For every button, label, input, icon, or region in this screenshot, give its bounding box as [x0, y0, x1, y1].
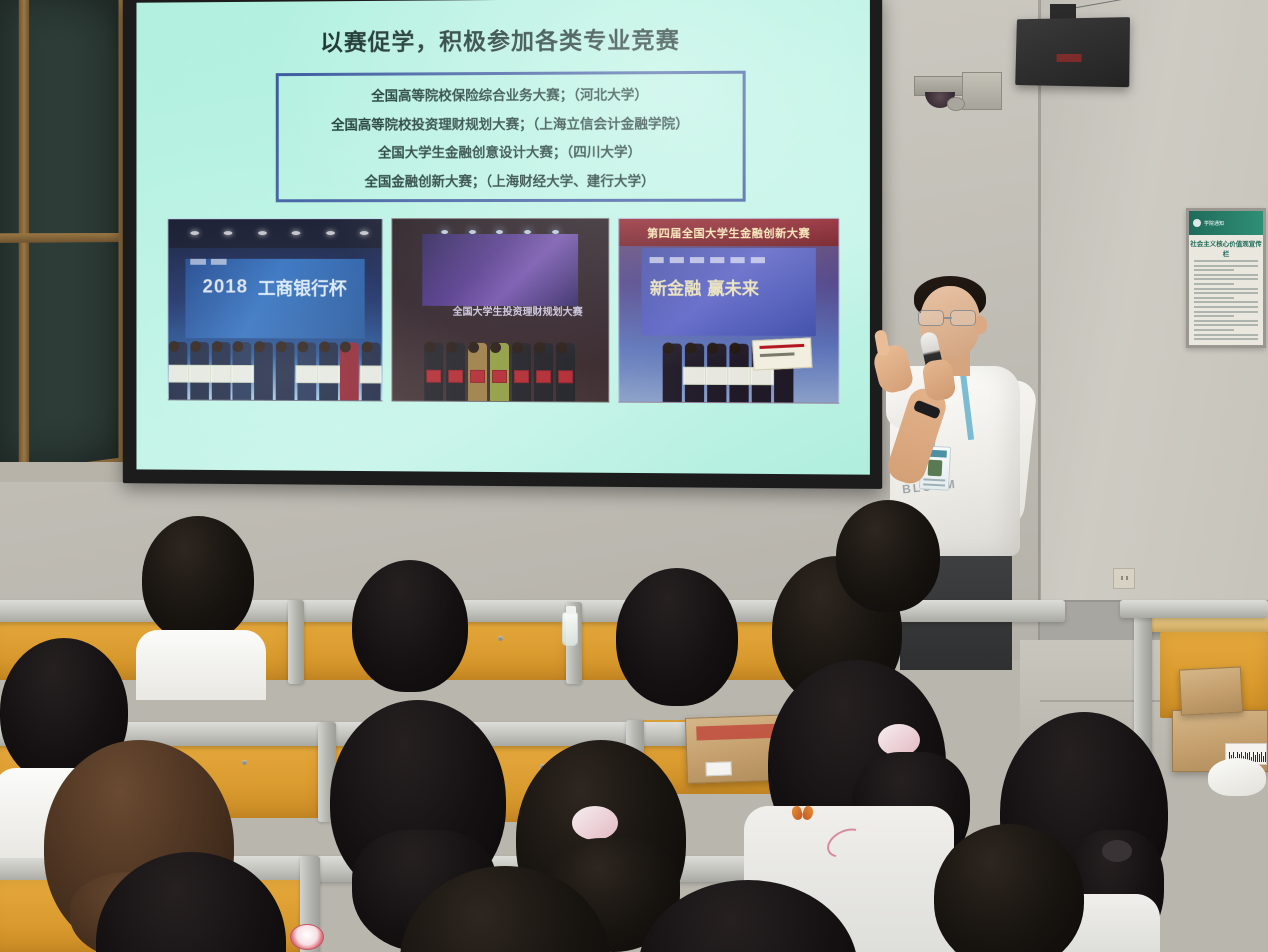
slide-bullet-4: 全国金融创新大赛；（上海财经大学、建行大学）: [365, 170, 655, 191]
audience-head: [836, 500, 940, 612]
audience-head: [616, 568, 738, 706]
photo2-people-row: [392, 313, 608, 401]
photo3-sponsor-logos: [650, 257, 765, 263]
photo1-person: [276, 341, 296, 400]
seat-rail[interactable]: [1120, 600, 1268, 618]
audience-head: [142, 516, 254, 642]
photo1-person: [254, 341, 273, 400]
photo3-oversized-cheque: [752, 338, 812, 371]
poster-logo-icon: [1193, 219, 1201, 227]
slide-bullet-1: 全国高等院校保险综合业务大赛；（河北大学）: [371, 83, 648, 104]
photo2-person: [534, 342, 554, 401]
photo2-person: [512, 342, 532, 401]
photo3-person: [663, 343, 683, 402]
badge-line: [923, 483, 945, 486]
seat-screw: [242, 760, 247, 765]
seat-divider-post: [288, 600, 304, 684]
chalkboard-frame-horizontal: [0, 233, 118, 243]
photo1-banner-year: 2018: [203, 277, 248, 299]
photo3-person: [707, 343, 727, 402]
seat-screw: [498, 636, 503, 641]
water-bottle[interactable]: [562, 612, 578, 646]
slide-photo-strip: 2018 工商银行杯: [168, 218, 840, 404]
loudspeaker-icon: [1015, 17, 1130, 87]
round-badge: [290, 924, 324, 950]
junction-box-2: [947, 97, 965, 111]
badge-line: [923, 478, 945, 481]
poster-header: 学院通知: [1189, 211, 1263, 235]
audience-shirt: [136, 630, 266, 700]
slide-photo-1: 2018 工商银行杯: [168, 218, 383, 401]
white-bag: [1208, 758, 1266, 796]
photo1-person: [362, 342, 382, 401]
poster-header-label: 学院通知: [1204, 220, 1224, 227]
photo2-person: [556, 342, 576, 401]
bottle-cap: [566, 606, 576, 614]
photo1-person: [190, 341, 209, 400]
slide-photo-3: 第四届全国大学生金融创新大赛 新金融 赢未来: [618, 218, 839, 404]
photo2-person: [490, 342, 510, 401]
speaker-brand-label: [1056, 54, 1081, 62]
photo1-person: [169, 341, 188, 399]
glasses-icon: [918, 310, 984, 326]
photo3-backdrop-text: 新金融 赢未来: [650, 274, 759, 299]
slide-photo-2: 全国大学生投资理财规划大赛: [391, 218, 609, 403]
photo3-person: [729, 343, 749, 403]
audience-head: [352, 560, 468, 692]
wall-poster: 学院通知 社会主义核心价值观宣传栏: [1186, 208, 1266, 348]
chalkboard: [0, 0, 125, 482]
photo3-person: [685, 343, 705, 402]
photo1-person: [297, 341, 317, 400]
butterfly-icon: [792, 806, 814, 822]
cardboard-box[interactable]: [1179, 666, 1243, 715]
slide-bullet-3: 全国大学生金融创意设计大赛；（四川大学）: [378, 141, 641, 162]
slide-bullet-2: 全国高等院校投资理财规划大赛；（上海立信会计金融学院）: [331, 112, 689, 133]
projection-screen: 以赛促学，积极参加各类专业竞赛 全国高等院校保险综合业务大赛；（河北大学） 全国…: [136, 0, 869, 475]
badge-photo: [928, 460, 943, 477]
hair-scrunchie: [572, 806, 618, 840]
photo1-banner-text: 工商银行杯: [258, 275, 347, 301]
photo2-person: [446, 342, 466, 401]
slide-bullet-box: 全国高等院校保险综合业务大赛；（河北大学） 全国高等院校投资理财规划大赛；（上海…: [276, 71, 746, 203]
photo2-backdrop: [422, 234, 577, 307]
photo1-people-row: [169, 313, 382, 401]
photo1-person: [233, 341, 252, 400]
projection-screen-frame: 以赛促学，积极参加各类专业竞赛 全国高等院校保险综合业务大赛；（河北大学） 全国…: [123, 0, 882, 489]
photo1-person: [319, 341, 339, 400]
poster-text-lines: [1189, 260, 1263, 340]
poster-title: 社会主义核心价值观宣传栏: [1189, 238, 1263, 258]
lecture-hall-scene: 学院通知 社会主义核心价值观宣传栏 以赛促学，积极参加各类专业竞赛 全国高等院校…: [0, 0, 1268, 952]
power-outlet-icon: [1113, 568, 1135, 589]
slide-title: 以赛促学，积极参加各类专业竞赛: [136, 19, 869, 58]
photo2-person: [424, 342, 444, 401]
photo2-person: [468, 342, 488, 401]
photo3-banner-text: 第四届全国大学生金融创新大赛: [647, 224, 810, 240]
photo1-person: [211, 341, 230, 400]
junction-box-1: [962, 72, 1002, 110]
box-label: [705, 761, 731, 776]
chalkboard-ledge: [0, 462, 140, 482]
photo1-ceiling: [169, 219, 382, 248]
photo3-banner: 第四届全国大学生金融创新大赛: [619, 219, 838, 247]
hair-tie: [1102, 840, 1132, 862]
photo1-person: [340, 342, 360, 401]
photo1-sponsor-logos: [190, 259, 226, 265]
right-wall: [1040, 0, 1268, 700]
